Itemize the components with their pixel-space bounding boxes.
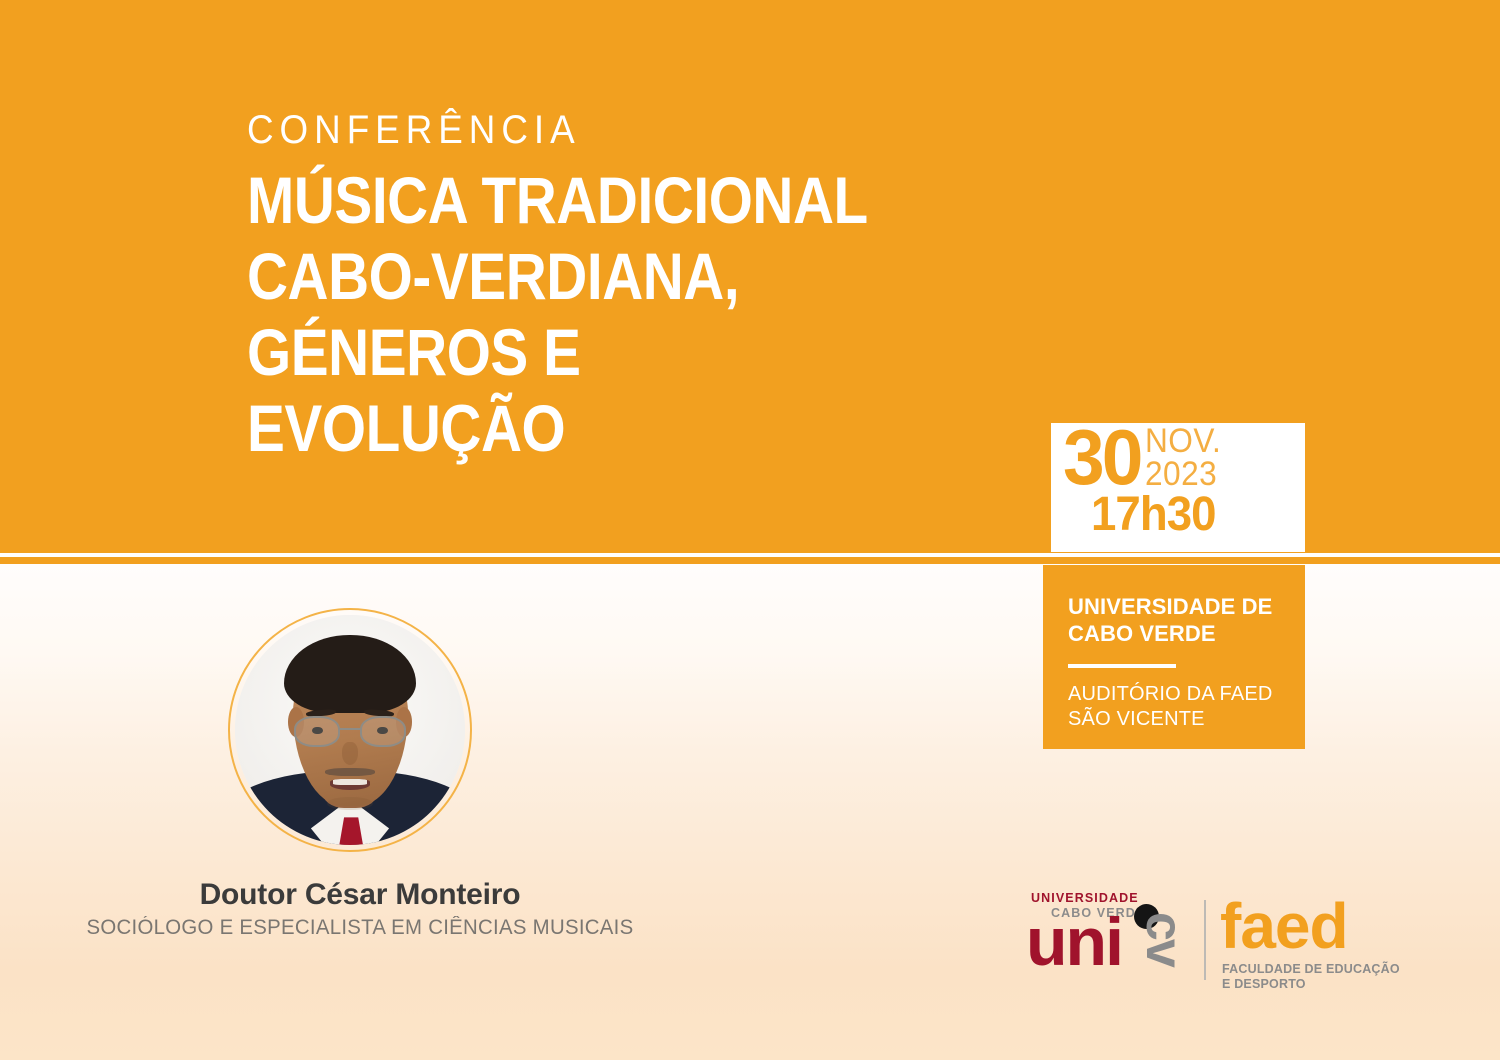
date-month: NOV. [1145,425,1221,458]
date-row: 30 NOV. 2023 [1063,421,1227,493]
unicv-wordmark: uni [1026,908,1122,976]
speaker-name: Doutor César Monteiro [0,878,720,912]
venue-place: AUDITÓRIO DA FAED SÃO VICENTE [1068,682,1305,732]
glasses-lens-left [294,716,340,747]
portrait-nose [342,742,358,765]
speaker-portrait-ring [228,608,472,852]
avatar [235,615,465,845]
page-title: MÚSICA TRADICIONAL CABO-VERDIANA, GÉNERO… [247,162,1047,466]
date-year: 2023 [1145,458,1221,491]
portrait-teeth [333,779,367,785]
venue-organization-line-2: CABO VERDE [1068,620,1305,647]
faed-wordmark: faed [1220,894,1348,958]
portrait-mouth [330,779,369,790]
event-time: 17h30 [1091,491,1216,539]
unicv-logo: UNIVERSIDADE CABO VERDE uni cv [1022,890,1198,990]
venue-box: UNIVERSIDADE DE CABO VERDE AUDITÓRIO DA … [1043,565,1305,749]
conference-poster: CONFERÊNCIA MÚSICA TRADICIONAL CABO-VERD… [0,0,1500,1060]
title-line-3: GÉNEROS E [247,314,935,390]
unicv-cv-mark: cv [1146,910,1194,982]
portrait-moustache [325,768,376,776]
title-line-2: CABO-VERDIANA, [247,238,935,314]
venue-organization: UNIVERSIDADE DE CABO VERDE [1068,593,1305,647]
venue-divider [1068,664,1176,668]
faed-subtitle-line-1: FACULDADE DE EDUCAÇÃO [1222,962,1400,977]
logo-separator [1204,900,1206,980]
speaker-role: SOCIÓLOGO E ESPECIALISTA EM CIÊNCIAS MUS… [11,915,709,940]
venue-organization-line-1: UNIVERSIDADE DE [1068,593,1305,620]
eyebrow-label: CONFERÊNCIA [247,108,581,153]
date-month-year: NOV. 2023 [1145,421,1227,491]
title-line-1: MÚSICA TRADICIONAL [247,162,935,238]
faed-logo: faed FACULDADE DE EDUCAÇÃO E DESPORTO [1220,890,1370,990]
orange-divider-rule [0,557,1500,564]
venue-place-line-2: SÃO VICENTE [1068,707,1305,732]
date-box: 30 NOV. 2023 17h30 [1043,418,1305,552]
glasses-lens-right [360,716,406,747]
unicv-tagline-line-1: UNIVERSIDADE [1031,892,1145,905]
unicv-cv-text: cv [1138,912,1190,966]
faed-subtitle-line-2: E DESPORTO [1222,977,1400,992]
logo-lockup: UNIVERSIDADE CABO VERDE uni cv faed FACU… [1022,890,1367,990]
title-line-4: EVOLUÇÃO [247,390,935,466]
venue-place-line-1: AUDITÓRIO DA FAED [1068,682,1305,707]
glasses-bridge [340,728,360,730]
faed-subtitle: FACULDADE DE EDUCAÇÃO E DESPORTO [1222,962,1400,992]
date-day: 30 [1063,421,1141,493]
